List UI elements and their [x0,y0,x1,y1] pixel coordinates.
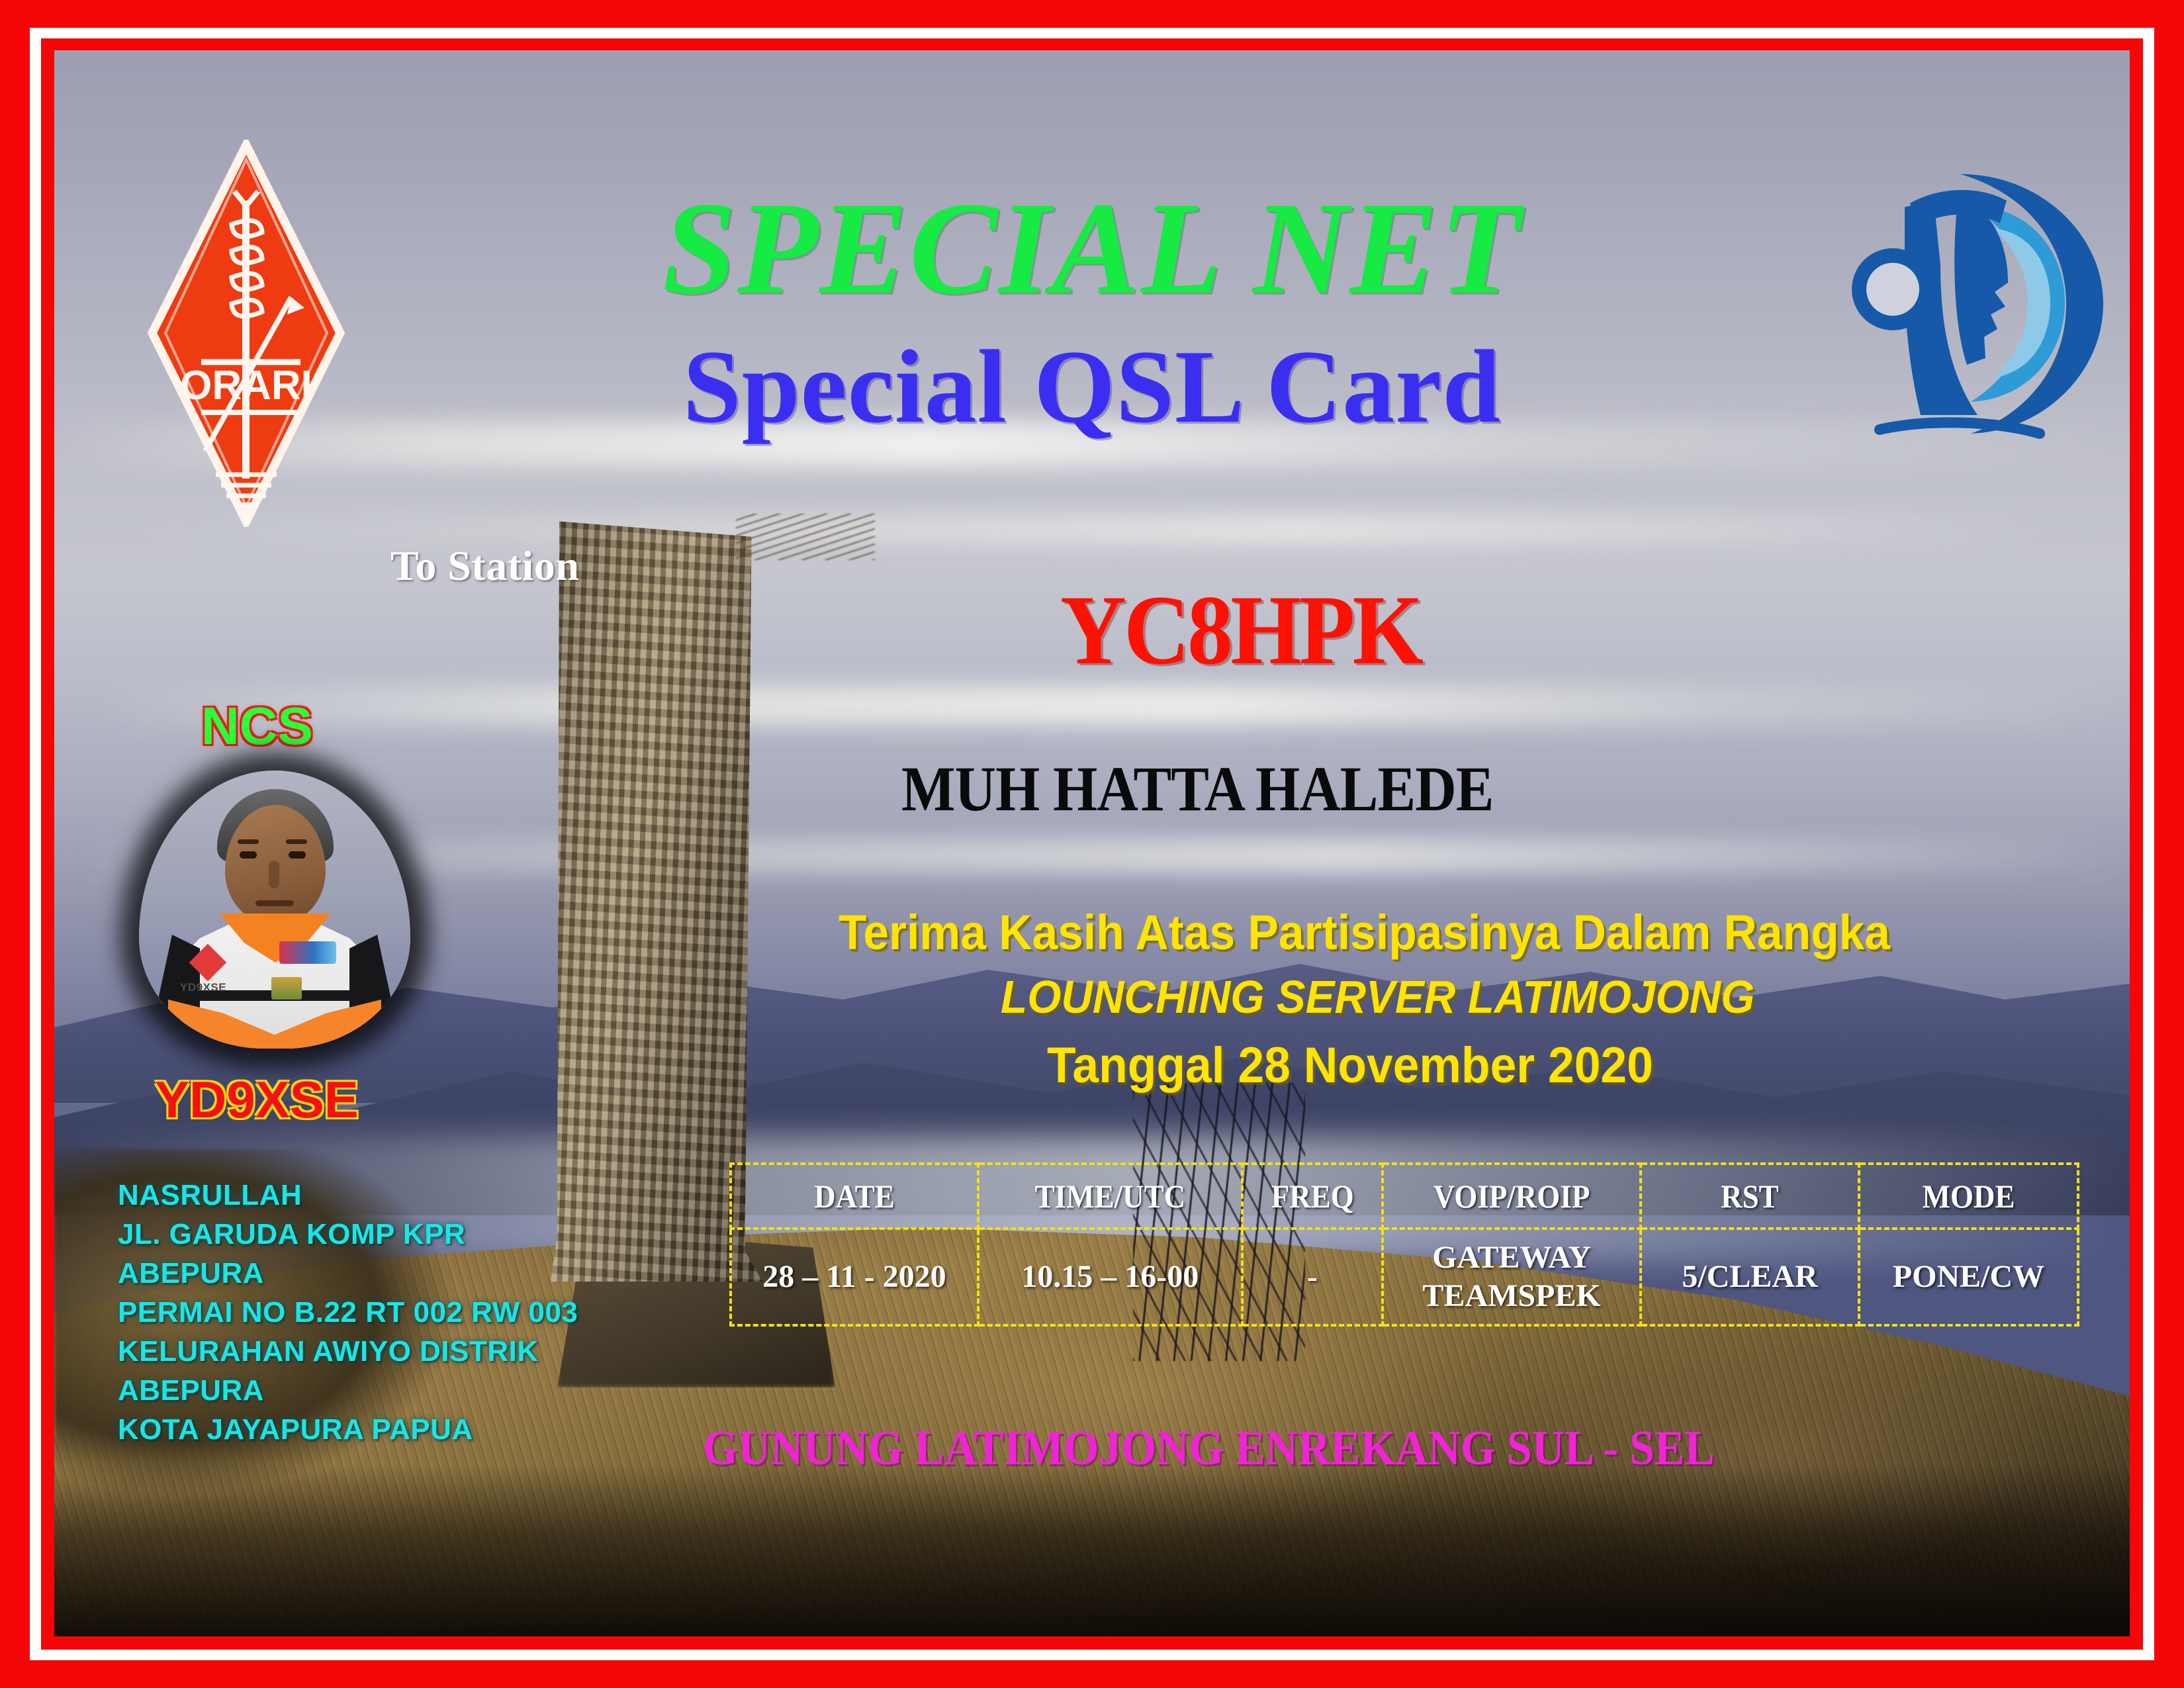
ncs-callsign: YD9XSE [155,1070,359,1130]
ncs-label: NCS [201,696,313,757]
page-subtitle-qsl-card: Special QSL Card [683,335,1501,440]
cell-date: 28 – 11 - 2020 [731,1229,978,1325]
nose [269,861,279,888]
footer-motto: "AMATIR RADIO ADALAH PROGRESIVE" [130,1636,1026,1636]
eye-right [289,851,306,859]
eye-left [240,851,257,859]
cell-time: 10.15 – 16-00 [978,1229,1242,1325]
uniform-logo-right [279,941,336,964]
uniform-callsign-text: YD9XSE [180,981,226,994]
column-header-mode: MODE [1870,1164,2068,1229]
cell-voip: GATEWAY TEAMSPEK [1383,1229,1641,1325]
cell-rst: 5/CLEAR [1641,1229,1859,1325]
table-header-row: DATE TIME/UTC FREQ VOIP/ROIP RST MODE [731,1164,2078,1229]
to-station-label: To Station [390,541,579,590]
address-line: KOTA JAYAPURA PAPUA [118,1410,578,1449]
cell-freq: - [1242,1229,1383,1325]
column-header-time: TIME/UTC [991,1164,1229,1229]
eyebrow-left [238,839,259,844]
location-label: GUNUNG LATIMOJONG ENREKANG SUL - SEL [703,1421,1715,1477]
thanks-line-3-date: Tanggal 28 November 2020 [1047,1037,1653,1094]
cell-voip-line2: TEAMSPEK [1385,1277,1639,1315]
cloud-band [54,514,2130,545]
operator-name: MUH HATTA HALEDE [901,752,1493,825]
qso-log-table: DATE TIME/UTC FREQ VOIP/ROIP RST MODE 28… [729,1162,2079,1327]
thanks-line-2-event: LOUNCHING SERVER LATIMOJONG [1001,970,1754,1023]
id-badge [271,977,302,1000]
column-header-rst: RST [1652,1164,1848,1229]
address-line: JL. GARUDA KOMP KPR [118,1215,578,1254]
orari-logo: ORARI [147,140,345,527]
ncs-operator-photo: YD9XSE [139,771,410,1049]
thanks-line-1: Terima Kasih Atas Partisipasinya Dalam R… [839,904,1890,961]
footer-website: Address : amatir.latimojong.com [1318,1632,1925,1636]
mouth [255,900,294,906]
address-block: NASRULLAH JL. GARUDA KOMP KPR ABEPURA PE… [118,1176,578,1449]
address-line: ABEPURA [118,1371,578,1410]
orari-logo-text: ORARI [180,363,312,408]
cell-mode: PONE/CW [1859,1229,2078,1325]
table-row: 28 – 11 - 2020 10.15 – 16-00 - GATEWAY T… [731,1229,2078,1325]
column-header-voip: VOIP/ROIP [1396,1164,1628,1229]
card-photo-background: ORARI SPECIAL NET Special QSL Card To St… [54,50,2130,1636]
cloud-band [54,686,2130,726]
column-header-date: DATE [743,1164,966,1229]
radio-headset-logo [1841,160,2119,444]
qsl-card: ORARI SPECIAL NET Special QSL Card To St… [0,0,2184,1688]
page-title-special-net: SPECIAL NET [662,183,1522,315]
column-header-freq: FREQ [1249,1164,1375,1229]
address-line: PERMAI NO B.22 RT 002 RW 003 [118,1293,578,1332]
address-line: ABEPURA [118,1254,578,1293]
station-callsign: YC8HPK [1060,573,1421,687]
foreground-shadow [54,1464,2130,1636]
address-line: KELURAHAN AWIYO DISTRIK [118,1332,578,1371]
grass-wisp [736,514,875,560]
cell-voip-line1: GATEWAY [1385,1239,1639,1277]
address-line: NASRULLAH [118,1176,578,1215]
eyebrow-right [286,839,307,844]
